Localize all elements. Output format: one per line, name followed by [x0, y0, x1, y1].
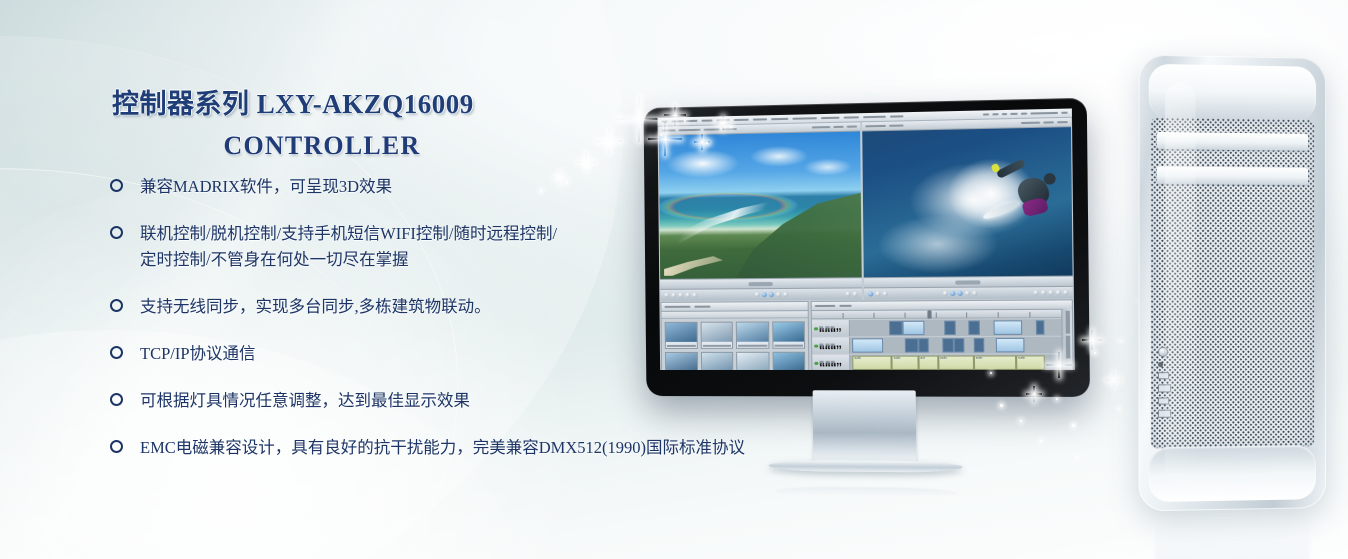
banner-stage: 控制器系列 LXY-AKZQ16009 CONTROLLER 兼容MADRIX软… [0, 0, 1348, 559]
viewer-left-canvas[interactable] [659, 132, 862, 279]
scrubber-handle[interactable] [748, 281, 772, 285]
list-item[interactable] [700, 322, 733, 349]
hollow-circle-icon [110, 299, 123, 312]
list-item[interactable] [736, 321, 769, 348]
timeline-tracks[interactable]: audio audio aud audio audio audio [812, 318, 1073, 370]
timeline-clip[interactable] [973, 338, 984, 352]
timeline-clip[interactable] [918, 338, 929, 352]
viewer-left-button-group-b[interactable] [845, 292, 857, 297]
timeline-track-a1[interactable]: audio audio aud audio audio audio [812, 355, 1072, 370]
list-item[interactable] [772, 352, 805, 370]
timeline-track-v1[interactable] [812, 337, 1072, 354]
viewer-right-transport-buttons[interactable] [943, 291, 978, 296]
viewer-right-canvas[interactable] [862, 127, 1072, 277]
viewer-right-button-group-b[interactable] [1033, 290, 1068, 295]
timeline-clip[interactable] [944, 321, 955, 335]
timeline-clip[interactable]: audio [938, 356, 974, 370]
surfboard-shape [982, 199, 1022, 221]
timeline-clip[interactable] [993, 321, 1022, 336]
timeline-clip[interactable]: audio [974, 356, 1016, 370]
multitrack-timeline[interactable]: audio audio aud audio audio audio [811, 299, 1074, 370]
feature-text-line1: 兼容MADRIX软件，可呈现3D效果 [140, 177, 392, 196]
browser-thumbnail-grid[interactable] [662, 318, 809, 370]
hollow-circle-icon [110, 179, 123, 192]
surfer-head [1044, 173, 1056, 185]
coast-beach-shape [664, 252, 744, 276]
timeline-clip[interactable] [852, 339, 883, 353]
timeline-clip[interactable]: audio [852, 356, 891, 370]
viewer-right[interactable] [862, 118, 1073, 300]
viewer-right-button-group-a[interactable] [868, 291, 888, 296]
track-lane[interactable] [850, 337, 1072, 354]
coastal-rainbow-aerial-photo [659, 132, 862, 279]
feature-text-line1: EMC电磁兼容设计，具有良好的抗干扰能力，完美兼容DMX512(1990)国际标… [140, 438, 745, 457]
track-lane[interactable]: audio audio aud audio audio audio [850, 355, 1072, 370]
timeline-clip[interactable] [996, 338, 1025, 353]
hollow-circle-icon [110, 393, 123, 406]
feature-text-line1: 联机控制/脱机控制/支持手机短信WIFI控制/随时远程控制/ [140, 224, 557, 243]
timeline-ruler[interactable] [812, 309, 1072, 319]
track-header[interactable] [812, 338, 850, 354]
timeline-clip[interactable] [902, 321, 924, 335]
timeline-clip[interactable] [1036, 321, 1045, 336]
hollow-circle-icon [110, 226, 123, 239]
track-lane[interactable] [850, 319, 1072, 336]
track-header[interactable] [812, 355, 850, 370]
viewer-left[interactable] [659, 122, 862, 301]
title-chinese: 控制器系列 LXY-AKZQ16009 [112, 82, 632, 121]
tower-specular-highlight [1165, 82, 1195, 483]
list-item[interactable] [700, 352, 733, 370]
lower-panels: audio audio aud audio audio audio [659, 298, 1074, 370]
hollow-circle-icon [110, 346, 123, 359]
video-editor-app: audio audio aud audio audio audio [658, 108, 1075, 370]
feature-text-line1: 支持无线同步，实现多台同步,多栋建筑物联动。 [140, 297, 491, 316]
surfer-figure [987, 160, 1059, 226]
timeline-clip[interactable] [942, 338, 953, 352]
viewer-right-controls[interactable] [864, 286, 1073, 300]
timeline-clip[interactable] [905, 339, 918, 353]
display-stand-neck [813, 390, 917, 464]
tower-floor-reflection [1155, 510, 1310, 559]
scrubber-handle[interactable] [955, 280, 980, 284]
timeline-audio-meters[interactable] [1061, 309, 1073, 370]
viewer-left-transport-buttons[interactable] [754, 292, 788, 297]
hollow-circle-icon [110, 440, 123, 453]
viewer-left-button-group-a[interactable] [664, 293, 697, 298]
tower-workstation [1139, 55, 1326, 512]
list-item[interactable] [736, 352, 769, 370]
clip-thumbnail-browser[interactable] [660, 301, 809, 370]
viewer-row [658, 118, 1074, 301]
feature-text-line1: TCP/IP协议通信 [140, 344, 256, 363]
timeline-clip[interactable] [969, 321, 980, 335]
viewer-left-controls[interactable] [660, 287, 862, 300]
page-title: 控制器系列 LXY-AKZQ16009 CONTROLLER [112, 82, 632, 161]
timeline-playhead[interactable] [927, 310, 931, 318]
track-header[interactable] [812, 320, 850, 336]
list-item[interactable] [665, 352, 698, 370]
timeline-clip[interactable] [953, 338, 964, 352]
display-screen: audio audio aud audio audio audio [658, 108, 1075, 370]
list-item[interactable] [772, 321, 805, 348]
headphone-jack-icon[interactable] [1158, 362, 1163, 367]
timeline-clip[interactable] [889, 321, 902, 335]
list-item[interactable] [665, 322, 698, 349]
title-english: CONTROLLER [112, 131, 532, 161]
timeline-track-v2[interactable] [812, 319, 1072, 336]
list-item: EMC电磁兼容设计，具有良好的抗干扰能力，完美兼容DMX512(1990)国际标… [108, 435, 848, 461]
timeline-clip[interactable]: aud [918, 356, 938, 370]
timeline-clip[interactable]: audio [1016, 356, 1045, 370]
menubar-status-icons[interactable] [983, 111, 1068, 115]
surfer-wave-spray-photo [862, 127, 1072, 277]
display-device: audio audio aud audio audio audio [644, 98, 1090, 397]
timeline-clip[interactable]: audio [892, 356, 918, 370]
feature-text-line1: 可根据灯具情况任意调整，达到最佳显示效果 [140, 391, 470, 410]
